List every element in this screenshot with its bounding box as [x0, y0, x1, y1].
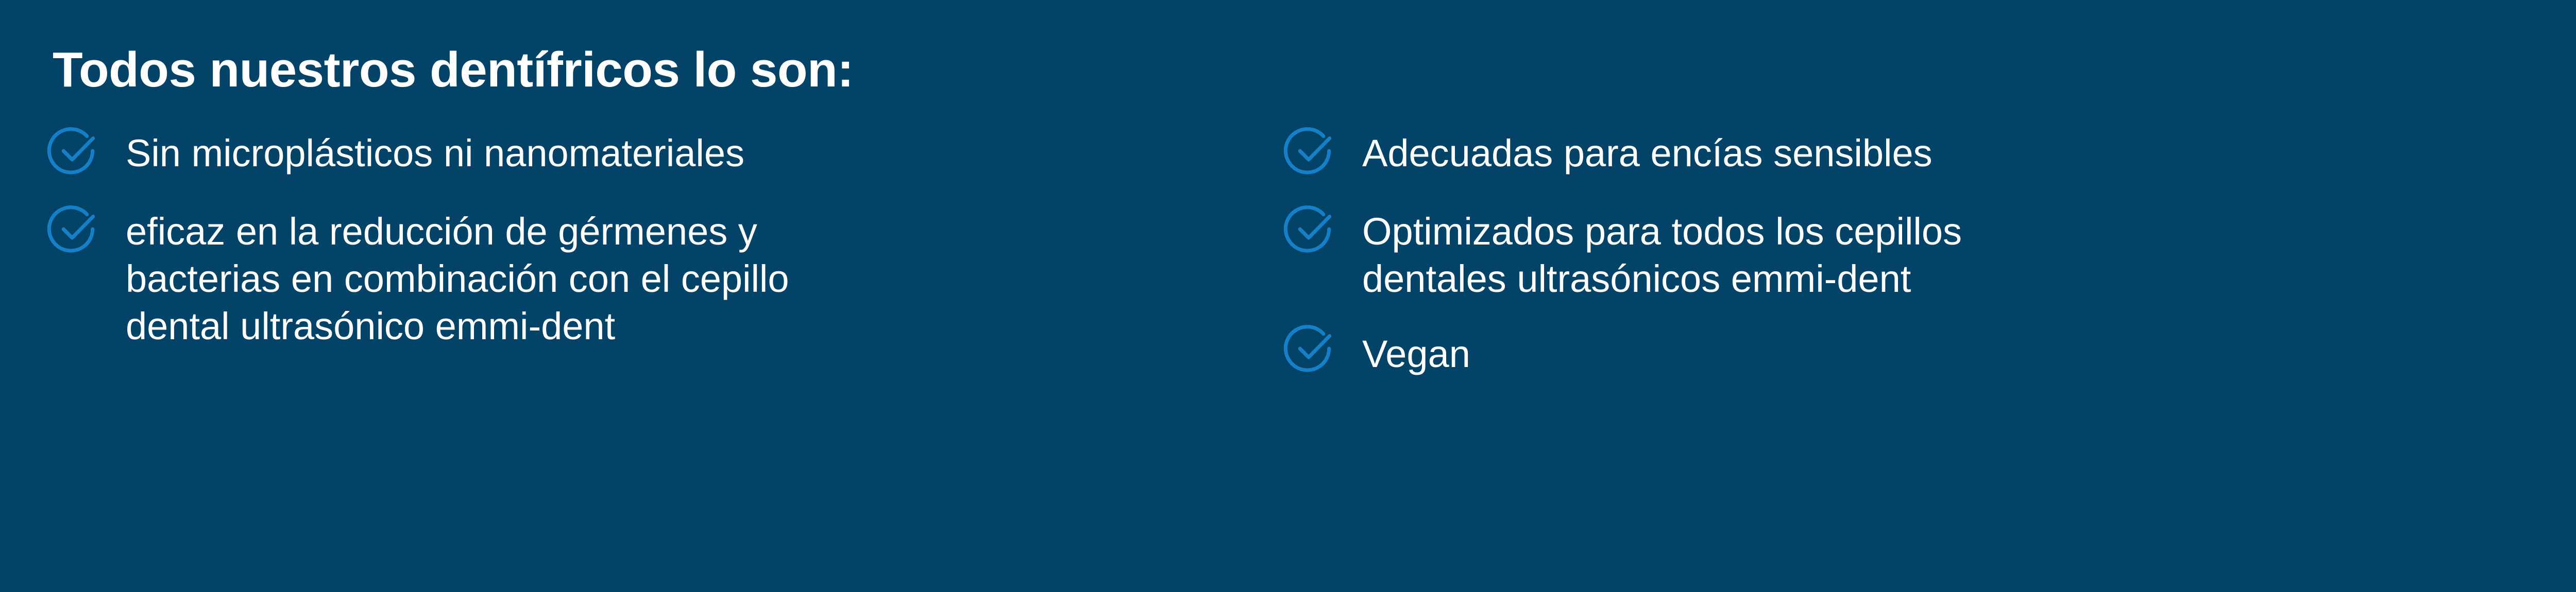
list-item: Sin microplásticos ni nanomateriales: [47, 128, 1284, 179]
circle-check-icon: [1284, 124, 1340, 179]
feature-column-left: Sin microplásticos ni nanomateriales efi…: [47, 128, 1284, 376]
circle-check-icon: [47, 124, 103, 179]
circle-check-icon: [1284, 202, 1340, 257]
list-item: eficaz en la reducción de gérmenes y bac…: [47, 206, 1284, 350]
list-item-label: Adecuadas para encías sensibles: [1362, 128, 1933, 177]
list-item: Adecuadas para encías sensibles: [1284, 128, 2546, 179]
list-item: Optimizados para todos los cepillos dent…: [1284, 206, 2546, 303]
list-item-label: Vegan: [1362, 325, 1470, 378]
list-item: Vegan: [1284, 325, 2546, 378]
circle-check-icon: [47, 202, 103, 257]
feature-column-right: Adecuadas para encías sensibles Optimiza…: [1284, 128, 2546, 404]
list-item-label: Optimizados para todos los cepillos dent…: [1362, 206, 1962, 303]
circle-check-icon: [1284, 321, 1340, 377]
feature-columns: Sin microplásticos ni nanomateriales efi…: [47, 128, 2576, 404]
feature-panel: Todos nuestros dentífricos lo son: Sin m…: [0, 0, 2576, 592]
page-title: Todos nuestros dentífricos lo son:: [53, 45, 2576, 95]
list-item-label: Sin microplásticos ni nanomateriales: [126, 128, 744, 177]
list-item-label: eficaz en la reducción de gérmenes y bac…: [126, 206, 789, 350]
